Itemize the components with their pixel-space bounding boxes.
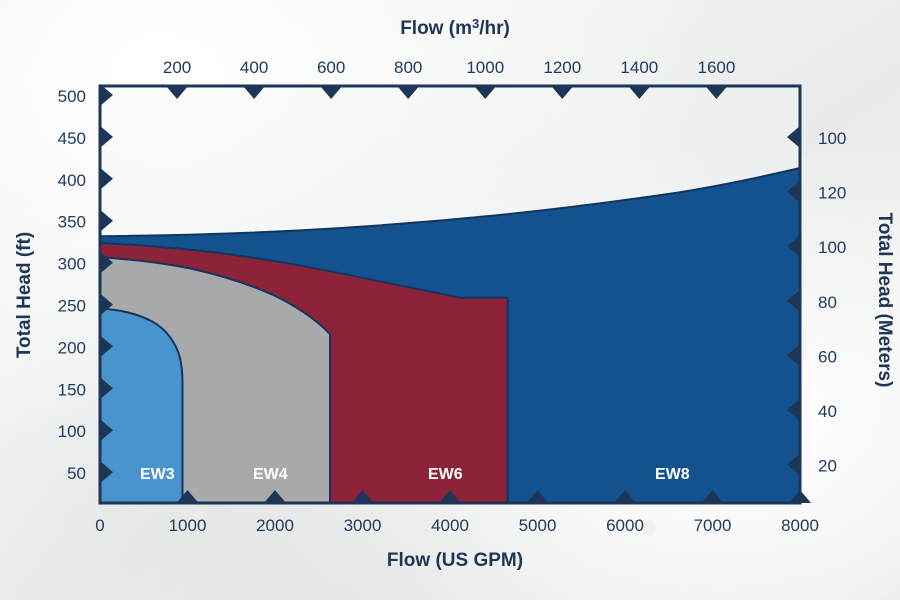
tick-label-bottom-4000: 4000 <box>431 516 469 535</box>
top-axis-title: Flow (m3/hr) <box>400 16 510 39</box>
tick-label-left-1-450: 450 <box>58 129 86 148</box>
tick-label-left-6-200: 200 <box>58 338 86 357</box>
series-label-ew8: EW8 <box>655 466 690 483</box>
tick-label-top-1200: 1200 <box>543 58 581 77</box>
tick-label-right-6-20: 20 <box>818 457 837 476</box>
series-label-ew3: EW3 <box>140 466 175 483</box>
series-label-ew4: EW4 <box>253 466 288 483</box>
left-axis-title: Total Head (ft) <box>14 232 35 358</box>
tick-label-left-7-150: 150 <box>58 380 86 399</box>
tick-label-bottom-1000: 1000 <box>169 516 207 535</box>
tick-label-left-0-500: 500 <box>58 87 86 106</box>
tick-label-top-600: 600 <box>317 58 345 77</box>
tick-label-bottom-6000: 6000 <box>606 516 644 535</box>
bottom-axis-title: Flow (US GPM) <box>387 550 523 571</box>
top-axis-title-tail: /hr) <box>479 18 510 39</box>
tick-label-bottom-8000: 8000 <box>781 516 819 535</box>
tick-label-bottom-7000: 7000 <box>694 516 732 535</box>
tick-label-left-4-300: 300 <box>58 255 86 274</box>
tick-label-top-400: 400 <box>240 58 268 77</box>
right-axis-title: Total Head (Meters) <box>874 213 895 388</box>
tick-label-top-200: 200 <box>163 58 191 77</box>
tick-label-left-2-400: 400 <box>58 171 86 190</box>
tick-label-right-1-120: 120 <box>818 184 846 203</box>
tick-label-right-3-80: 80 <box>818 293 837 312</box>
tick-label-right-2-100: 100 <box>818 238 846 257</box>
tick-label-top-1600: 1600 <box>697 58 735 77</box>
pump-performance-chart: Flow (m3/hr) Flow (US GPM) Total Head (f… <box>0 0 900 600</box>
tick-label-right-0-100: 100 <box>818 129 846 148</box>
tick-label-left-5-250: 250 <box>58 297 86 316</box>
top-axis-title-base: Flow (m <box>400 18 472 39</box>
tick-label-right-4-60: 60 <box>818 347 837 366</box>
tick-label-top-800: 800 <box>394 58 422 77</box>
tick-label-right-5-40: 40 <box>818 402 837 421</box>
tick-label-top-1000: 1000 <box>466 58 504 77</box>
series-label-ew6: EW6 <box>428 466 463 483</box>
tick-label-bottom-5000: 5000 <box>519 516 557 535</box>
tick-label-left-8-100: 100 <box>58 422 86 441</box>
tick-label-bottom-0: 0 <box>95 516 104 535</box>
tick-label-bottom-2000: 2000 <box>256 516 294 535</box>
tick-label-bottom-3000: 3000 <box>344 516 382 535</box>
tick-label-left-3-350: 350 <box>58 213 86 232</box>
tick-label-left-9-50: 50 <box>67 464 86 483</box>
top-axis-title-superscript: 3 <box>472 16 479 31</box>
tick-label-top-1400: 1400 <box>620 58 658 77</box>
